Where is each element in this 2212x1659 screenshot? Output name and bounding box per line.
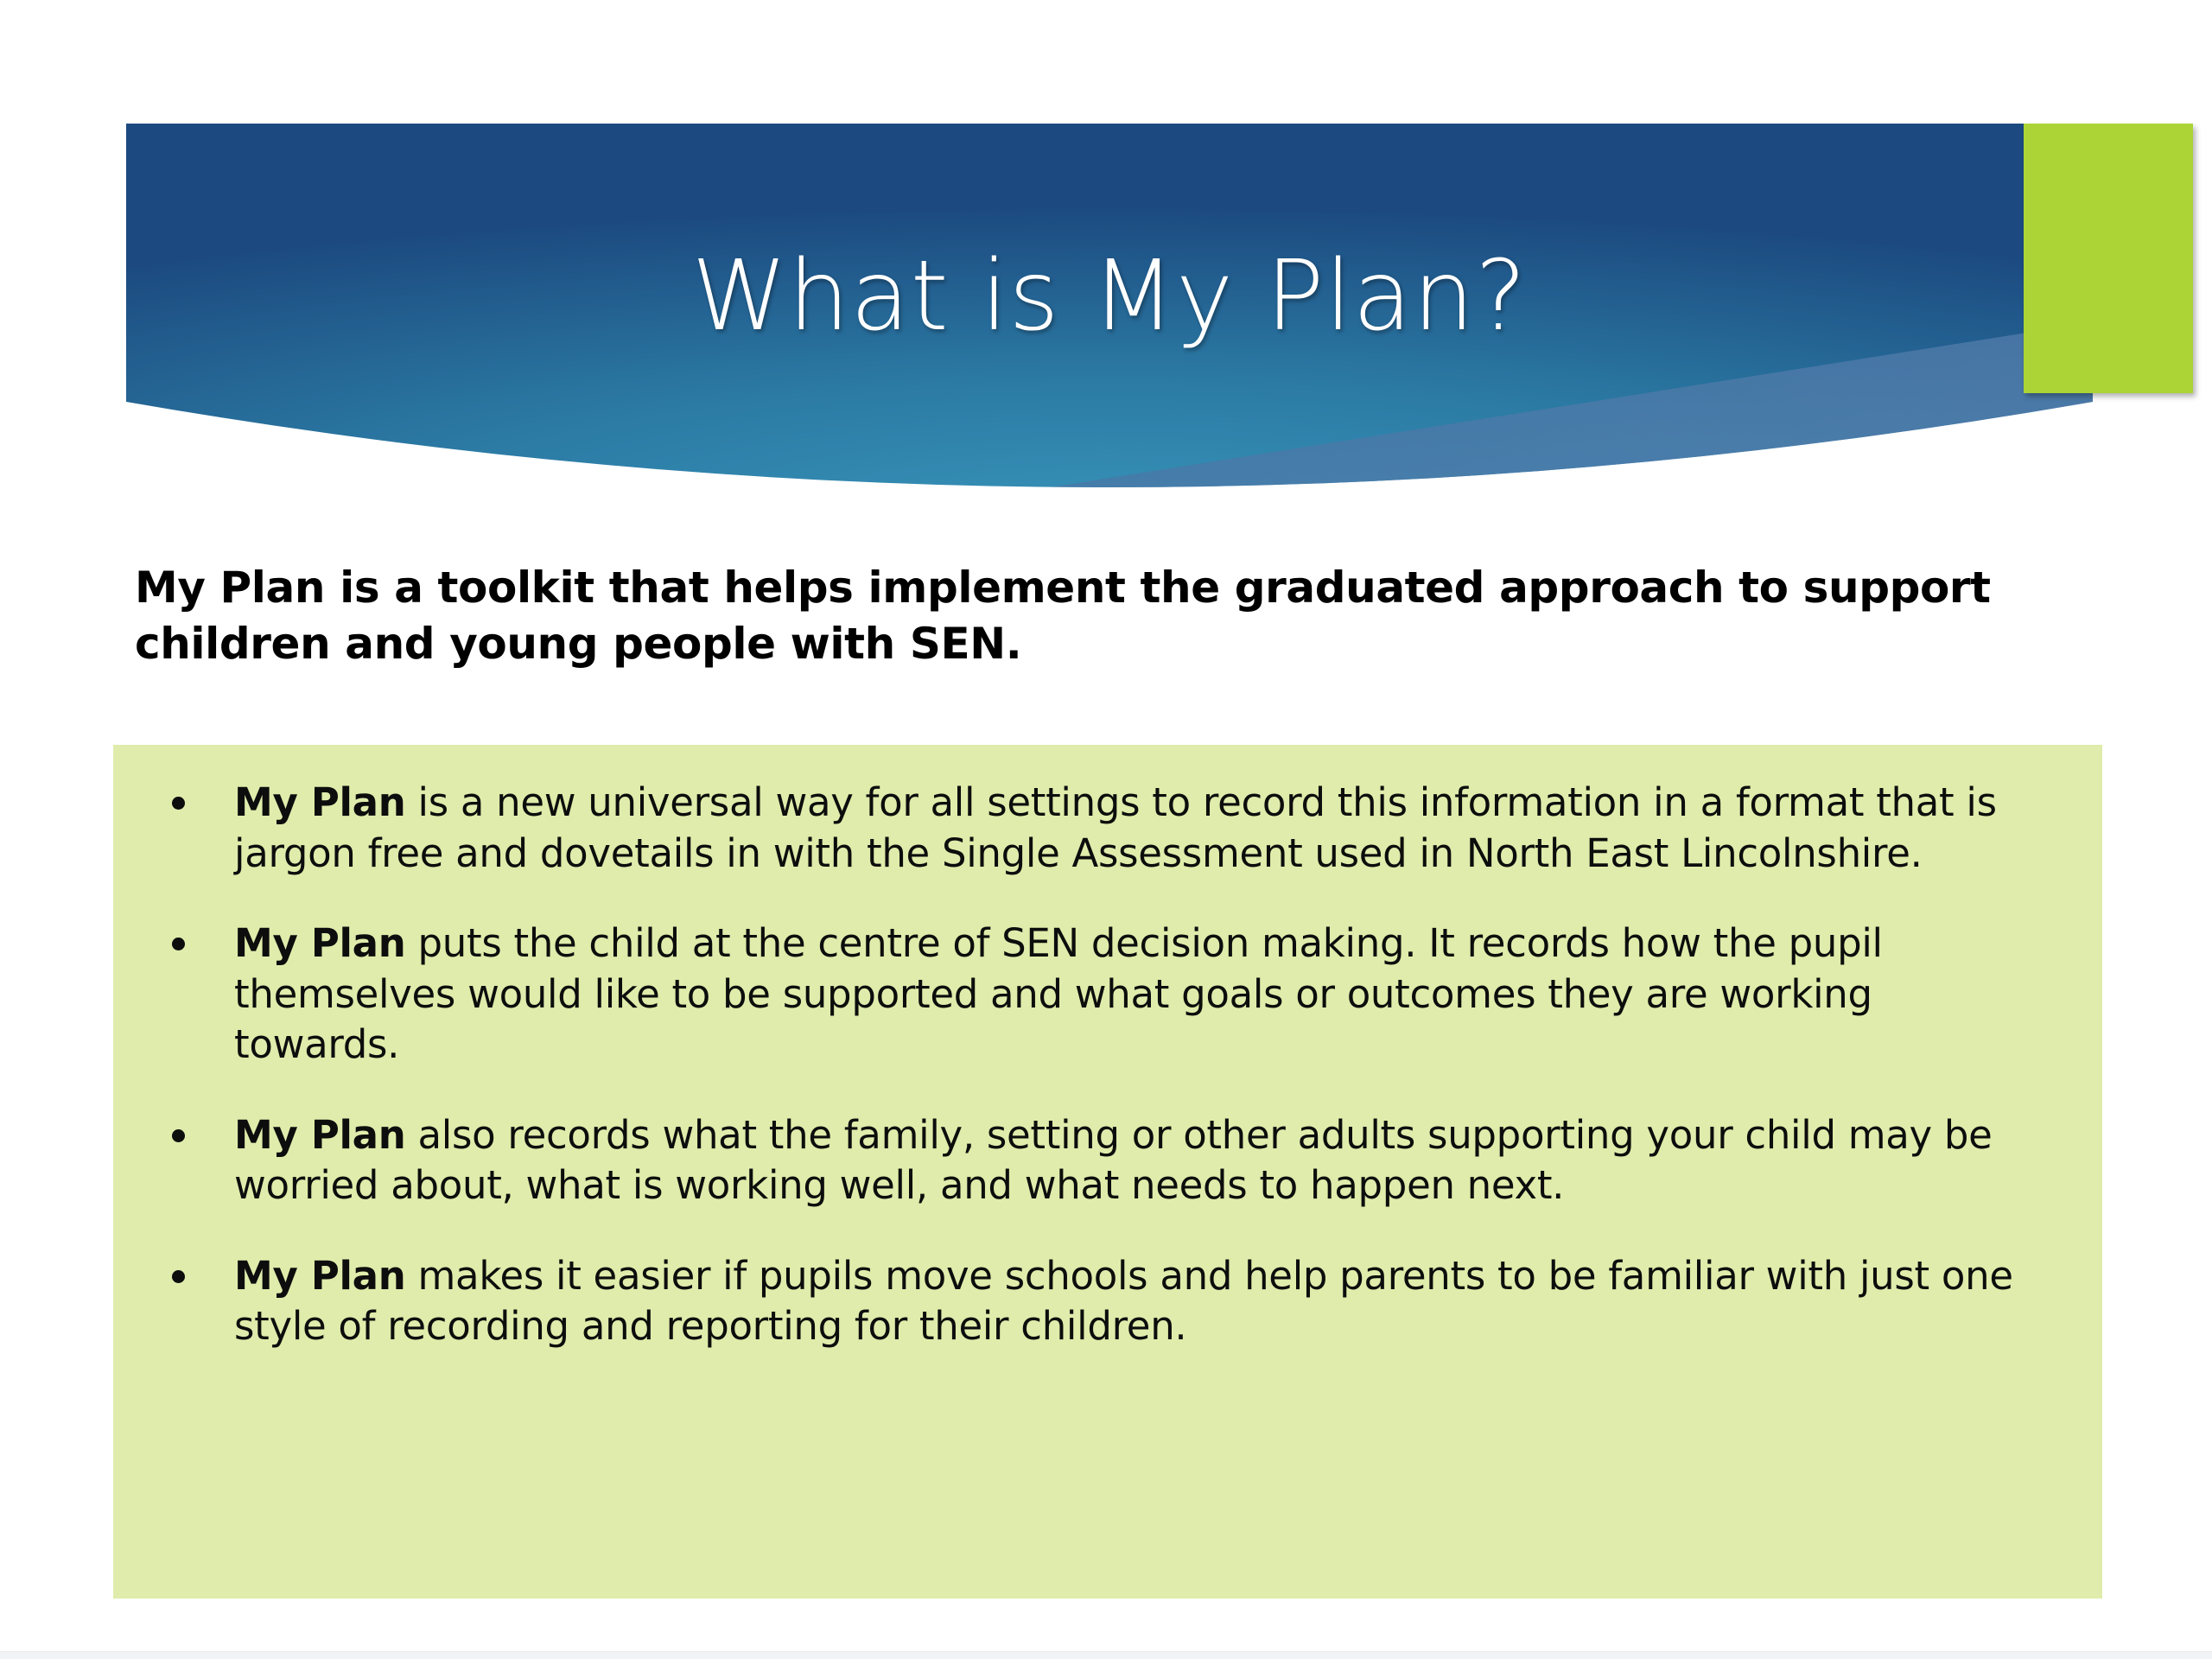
list-item: My Plan puts the child at the centre of … xyxy=(143,918,2042,1071)
bullet-text: makes it easier if pupils move schools a… xyxy=(234,1253,2013,1350)
green-accent-tab xyxy=(2024,124,2193,393)
list-item: My Plan also records what the family, se… xyxy=(143,1110,2042,1211)
header-banner: What is My Plan? xyxy=(126,124,2093,504)
bullet-lead: My Plan xyxy=(234,1112,406,1158)
bullet-lead: My Plan xyxy=(234,779,406,825)
bullet-dot-icon xyxy=(172,1129,185,1142)
slide-canvas: What is My Plan? My Plan is a toolkit th… xyxy=(0,0,2212,1659)
bullet-lead: My Plan xyxy=(234,920,406,966)
bullet-dot-icon xyxy=(172,1270,185,1283)
list-item: My Plan is a new universal way for all s… xyxy=(143,778,2042,879)
content-box: My Plan is a new universal way for all s… xyxy=(113,745,2102,1599)
bullet-text: is a new universal way for all settings … xyxy=(234,779,1997,876)
list-item: My Plan makes it easier if pupils move s… xyxy=(143,1251,2042,1352)
bullet-text: puts the child at the centre of SEN deci… xyxy=(234,920,1883,1067)
bullet-dot-icon xyxy=(172,938,185,950)
bullet-lead: My Plan xyxy=(234,1253,406,1299)
bullet-dot-icon xyxy=(172,797,185,810)
bullet-text: also records what the family, setting or… xyxy=(234,1112,1993,1209)
banner-shape xyxy=(126,124,2093,512)
bullet-list: My Plan is a new universal way for all s… xyxy=(113,745,2102,1352)
slide-subtitle: My Plan is a toolkit that helps implemen… xyxy=(135,560,2088,672)
bottom-edge-strip xyxy=(0,1651,2212,1659)
